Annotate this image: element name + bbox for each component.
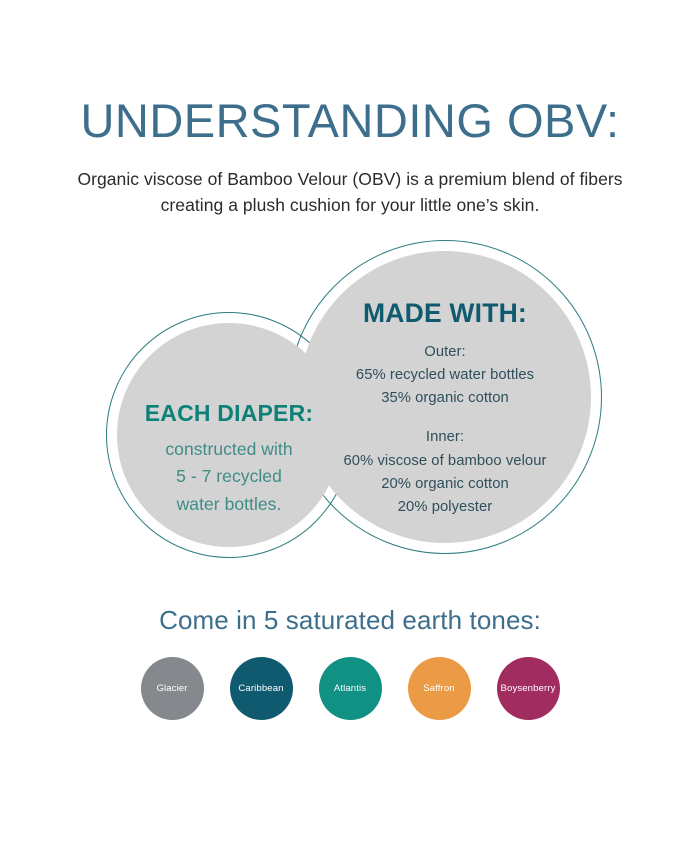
- subtitle-line-1: Organic viscose of Bamboo Velour (OBV) i…: [0, 166, 700, 193]
- color-swatch-label: Boysenberry: [501, 683, 556, 694]
- outer-line-1: 65% recycled water bottles: [288, 364, 602, 387]
- subtitle-line-2: creating a plush cushion for your little…: [0, 192, 700, 219]
- page-title: UNDERSTANDING OBV:: [0, 96, 700, 146]
- color-swatch-caribbean[interactable]: Caribbean: [230, 657, 293, 720]
- color-swatch-label: Atlantis: [334, 683, 366, 694]
- header: UNDERSTANDING OBV: Organic viscose of Ba…: [0, 96, 700, 219]
- color-swatch-glacier[interactable]: Glacier: [141, 657, 204, 720]
- outer-label: Outer:: [288, 341, 602, 364]
- left-circle-content: EACH DIAPER: constructed with 5 - 7 recy…: [106, 400, 352, 519]
- color-swatch-saffron[interactable]: Saffron: [408, 657, 471, 720]
- color-section-heading: Come in 5 saturated earth tones:: [0, 605, 700, 636]
- each-diaper-body: constructed with 5 - 7 recycled water bo…: [106, 436, 352, 519]
- each-diaper-line-1: constructed with: [106, 436, 352, 464]
- venn-diagram: MADE WITH: Outer: 65% recycled water bot…: [0, 236, 700, 566]
- made-with-heading: MADE WITH:: [288, 298, 602, 330]
- color-swatch-atlantis[interactable]: Atlantis: [319, 657, 382, 720]
- color-swatch-boysenberry[interactable]: Boysenberry: [497, 657, 560, 720]
- each-diaper-heading: EACH DIAPER:: [106, 400, 352, 428]
- color-swatch-row: GlacierCaribbeanAtlantisSaffronBoysenber…: [0, 657, 700, 720]
- each-diaper-line-3: water bottles.: [106, 491, 352, 519]
- color-swatch-label: Glacier: [156, 683, 187, 694]
- color-swatch-label: Saffron: [423, 683, 454, 694]
- each-diaper-line-2: 5 - 7 recycled: [106, 463, 352, 491]
- page-subtitle: Organic viscose of Bamboo Velour (OBV) i…: [0, 166, 700, 219]
- infographic-page: UNDERSTANDING OBV: Organic viscose of Ba…: [0, 0, 700, 855]
- color-swatch-label: Caribbean: [238, 683, 283, 694]
